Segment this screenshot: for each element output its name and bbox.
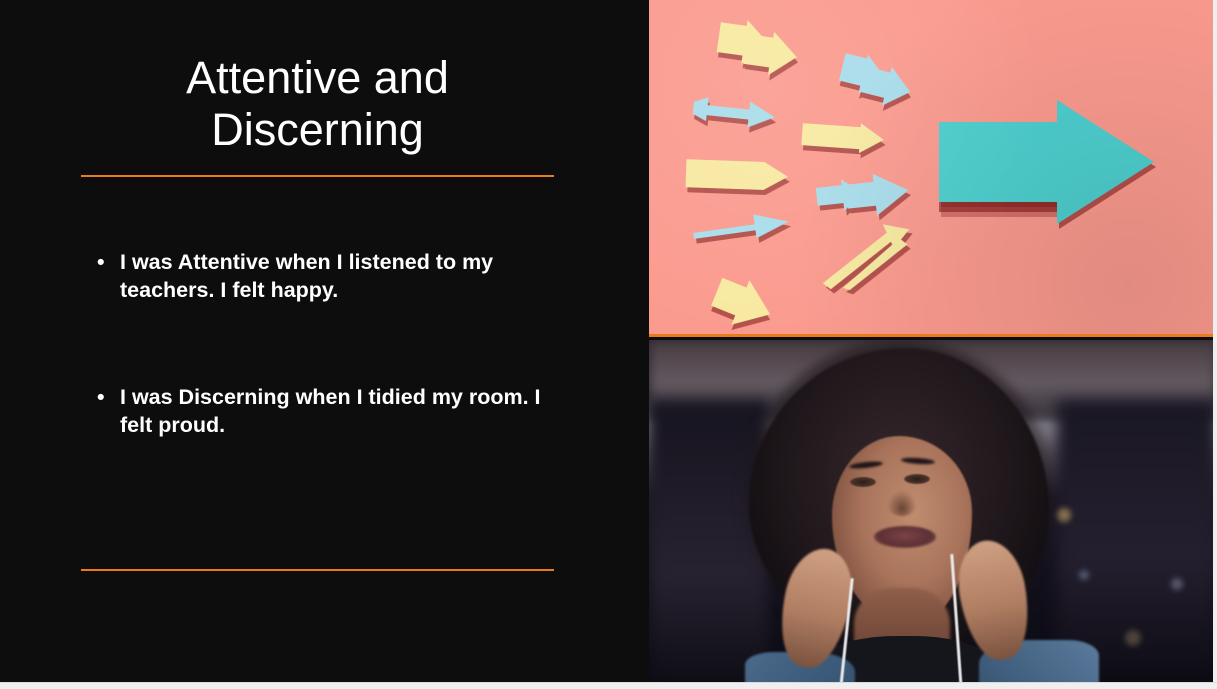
slide-text-panel: Attentive and Discerning • I was Attenti… xyxy=(0,0,649,682)
blue-tail-arrow-icon xyxy=(691,203,795,253)
list-item: • I was Discerning when I tidied my room… xyxy=(92,383,562,439)
list-item: • I was Attentive when I listened to my … xyxy=(92,248,562,304)
page-title: Attentive and Discerning xyxy=(81,52,554,156)
yellow-wide-arrow-icon xyxy=(686,158,789,192)
list-item-label: I was Attentive when I listened to my te… xyxy=(120,250,493,302)
bokeh-light xyxy=(1079,570,1089,580)
title-block: Attentive and Discerning xyxy=(81,52,554,156)
blue-chevron-arrow-icon xyxy=(834,49,923,120)
yellow-chevron-arrow-icon xyxy=(713,16,807,89)
blue-thin-arrow-icon xyxy=(691,92,776,134)
lips xyxy=(874,526,936,548)
bottom-divider-rule xyxy=(81,569,554,571)
page-bottom-margin xyxy=(0,682,1217,689)
bokeh-light xyxy=(1057,508,1071,522)
bullet-point-icon: • xyxy=(97,248,105,276)
large-teal-arrow-icon xyxy=(939,100,1154,240)
bokeh-light xyxy=(1171,578,1183,590)
title-divider-rule xyxy=(81,175,554,177)
yellow-block-arrow-icon xyxy=(801,119,885,155)
yellow-bottom-arrow-icon xyxy=(705,269,793,337)
nose xyxy=(887,490,917,516)
bullet-point-icon: • xyxy=(97,383,105,411)
bokeh-light xyxy=(1125,630,1141,646)
slide-image-column xyxy=(649,0,1213,689)
page-right-margin xyxy=(1213,0,1217,689)
yellow-line-arrow-icon xyxy=(811,215,923,296)
presentation-slide: Attentive and Discerning • I was Attenti… xyxy=(0,0,1217,689)
woman-with-earphones-photo xyxy=(649,340,1217,689)
eye-left xyxy=(850,477,876,487)
blue-double-arrow-icon xyxy=(815,170,911,223)
eye-right xyxy=(904,474,930,484)
bullet-list: • I was Attentive when I listened to my … xyxy=(92,248,562,439)
list-item-label: I was Discerning when I tidied my room. … xyxy=(120,385,541,437)
paper-arrows-photo xyxy=(649,0,1213,337)
